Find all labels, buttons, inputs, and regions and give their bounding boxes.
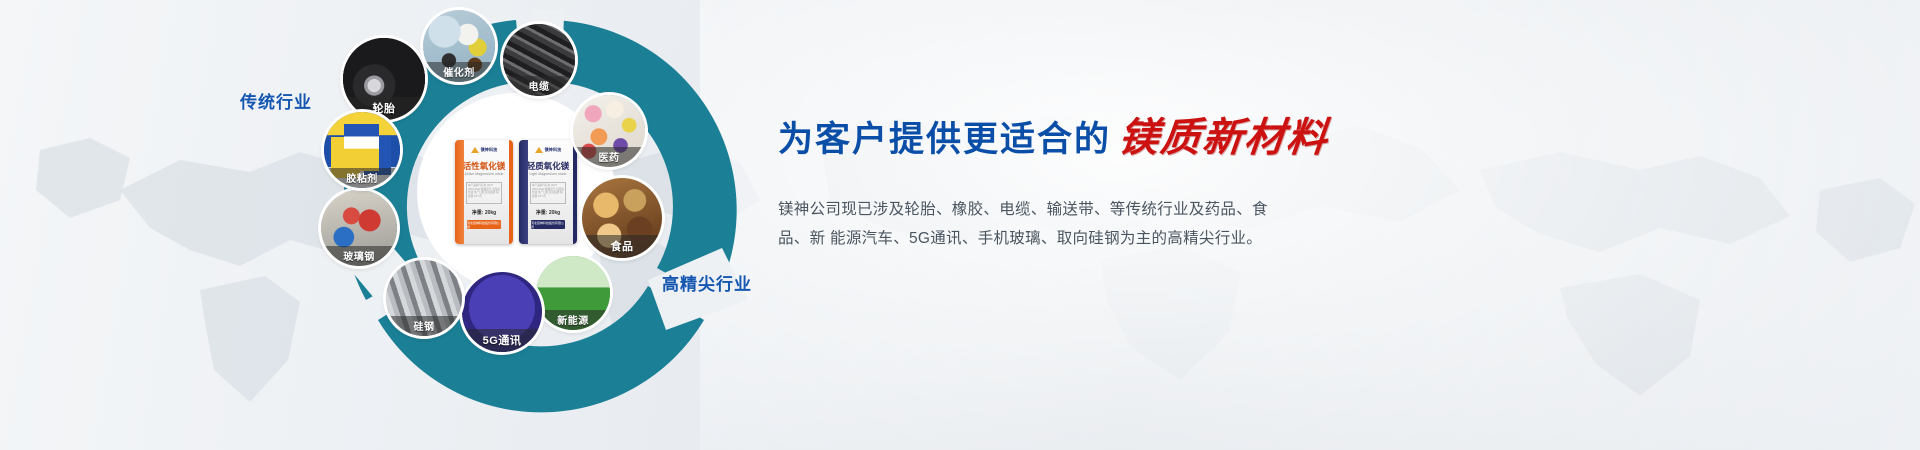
net-weight: 净重: 20kg xyxy=(472,209,496,216)
headline-red-calligraphy: 镁质新材料 xyxy=(1116,105,1332,163)
brand-name: 镁神科技 xyxy=(545,147,562,153)
mountain-logo-icon xyxy=(471,147,479,153)
company-footer-badge: 河北镁神科技股份有限公司 xyxy=(467,220,501,229)
bag-spine-right xyxy=(509,140,513,244)
product-bag-active-mgo: 镁神科技 活性氧化镁 Active Magnesium oxide 本产品执行标… xyxy=(455,140,513,244)
mountain-logo-icon xyxy=(535,147,543,153)
product-name-cn: 活性氧化镁 xyxy=(463,162,506,171)
brand-name: 镁神科技 xyxy=(481,147,498,153)
banner-copy: 为客户提供更适合的 镁质新材料 镁神公司现已涉及轮胎、橡胶、电缆、输送带、等传统… xyxy=(778,105,1478,253)
industry-node-label: 医药 xyxy=(573,147,645,167)
hero-banner: 镁神科技 活性氧化镁 Active Magnesium oxide 本产品执行标… xyxy=(0,0,1920,450)
company-footer-badge: 河北镁神科技股份有限公司 xyxy=(531,220,565,229)
product-spec-box: 本产品执行标准 HG/T 2573-2012 规格型号 活性氧化镁 生产日期 见… xyxy=(466,182,502,204)
industry-node-label: 电缆 xyxy=(503,76,575,96)
industry-node-tire[interactable]: 轮胎 xyxy=(343,38,425,120)
industry-node-label: 玻璃钢 xyxy=(321,246,397,266)
banner-paragraph: 镁神公司现已涉及轮胎、橡胶、电缆、输送带、等传统行业及药品、食品、新 能源汽车、… xyxy=(778,195,1298,253)
product-name-en: Active Magnesium oxide xyxy=(465,172,504,176)
industry-node-frp[interactable]: 玻璃钢 xyxy=(321,190,397,266)
brand-logo: 镁神科技 xyxy=(471,147,498,153)
industry-node-label: 食品 xyxy=(582,235,662,258)
product-bag-light-mgo: 镁神科技 轻质氧化镁 Light Magnesium oxide 本产品执行标准… xyxy=(519,140,577,244)
industry-node-label: 胶粘剂 xyxy=(324,168,400,188)
brand-logo: 镁神科技 xyxy=(535,147,562,153)
paragraph-line-2: 能源汽车、5G通讯、手机玻璃、取向硅钢为主的高精尖行业。 xyxy=(830,230,1262,247)
industry-node-cable[interactable]: 电缆 xyxy=(503,24,575,96)
bag-spine-left xyxy=(455,140,464,244)
product-name-en: Light Magnesium oxide xyxy=(530,172,567,176)
product-name-cn: 轻质氧化镁 xyxy=(527,162,570,171)
industry-node-label: 硅钢 xyxy=(386,316,462,336)
industry-node-5g[interactable]: 5G通讯 xyxy=(462,272,542,352)
industry-node-silicon-steel[interactable]: 硅钢 xyxy=(386,260,462,336)
industry-node-food[interactable]: 食品 xyxy=(582,178,662,258)
product-spec-box: 本产品执行标准 HG/T 2573-2012 规格型号 轻质氧化镁 生产日期 见… xyxy=(530,182,566,204)
industry-node-catalyst[interactable]: 催化剂 xyxy=(423,10,495,82)
industry-node-adhesive[interactable]: 胶粘剂 xyxy=(324,112,400,188)
industry-node-label: 5G通讯 xyxy=(462,329,542,352)
headline: 为客户提供更适合的 镁质新材料 xyxy=(778,105,1478,163)
industry-node-medicine[interactable]: 医药 xyxy=(573,95,645,167)
industry-circle-diagram: 镁神科技 活性氧化镁 Active Magnesium oxide 本产品执行标… xyxy=(318,0,788,450)
net-weight: 净重: 20kg xyxy=(536,209,560,216)
industry-node-label: 新能源 xyxy=(536,310,610,330)
industry-node-label: 催化剂 xyxy=(423,62,495,82)
section-label-traditional: 传统行业 xyxy=(240,88,312,113)
section-label-hightech: 高精尖行业 xyxy=(662,270,752,295)
bag-spine-left xyxy=(519,140,528,244)
headline-blue-text: 为客户提供更适合的 xyxy=(778,111,1111,162)
industry-node-new-energy[interactable]: 新能源 xyxy=(536,256,610,330)
